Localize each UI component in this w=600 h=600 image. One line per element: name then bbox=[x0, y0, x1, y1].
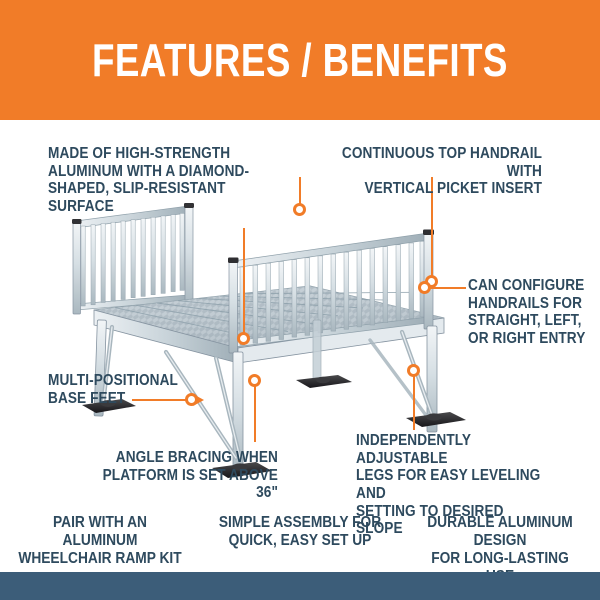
footer-benefits-row: PAIR WITH AN ALUMINUM WHEELCHAIR RAMP KI… bbox=[0, 514, 600, 570]
footer-item-simple-assembly: SIMPLE ASSEMBLY FOR QUICK, EASY SET UP bbox=[214, 514, 386, 550]
leader-line-deck-surface bbox=[243, 228, 245, 338]
base-foot-right bbox=[406, 412, 466, 427]
callout-handrail-config: CAN CONFIGURE HANDRAILS FOR STRAIGHT, LE… bbox=[468, 277, 588, 348]
footer-bar bbox=[0, 572, 600, 600]
callout-base-feet: MULTI-POSITIONAL BASE FEET bbox=[48, 372, 189, 407]
marker-deck-surface bbox=[237, 332, 250, 345]
leader-line-adjustable-legs bbox=[413, 370, 415, 430]
leader-line-angle-bracing bbox=[254, 380, 256, 442]
marker-handrail-config bbox=[418, 281, 431, 294]
callout-deck-surface: MADE OF HIGH-STRENGTH ALUMINUM WITH A DI… bbox=[48, 145, 268, 216]
page-title: FEATURES / BENEFITS bbox=[92, 37, 508, 83]
base-foot-rear bbox=[296, 375, 352, 388]
callout-angle-bracing: ANGLE BRACING WHEN PLATFORM IS SET ABOVE… bbox=[90, 449, 278, 502]
marker-adjustable-legs bbox=[407, 364, 420, 377]
footer-item-ramp-kit: PAIR WITH AN ALUMINUM WHEELCHAIR RAMP KI… bbox=[14, 514, 186, 568]
handrail-rear-left bbox=[72, 203, 194, 314]
marker-angle-bracing bbox=[248, 374, 261, 387]
header-banner: FEATURES / BENEFITS bbox=[0, 0, 600, 120]
callout-top-handrail: CONTINUOUS TOP HANDRAIL WITH VERTICAL PI… bbox=[322, 145, 542, 198]
infographic-page: FEATURES / BENEFITS bbox=[0, 0, 600, 600]
marker-top-handrail bbox=[293, 203, 306, 216]
